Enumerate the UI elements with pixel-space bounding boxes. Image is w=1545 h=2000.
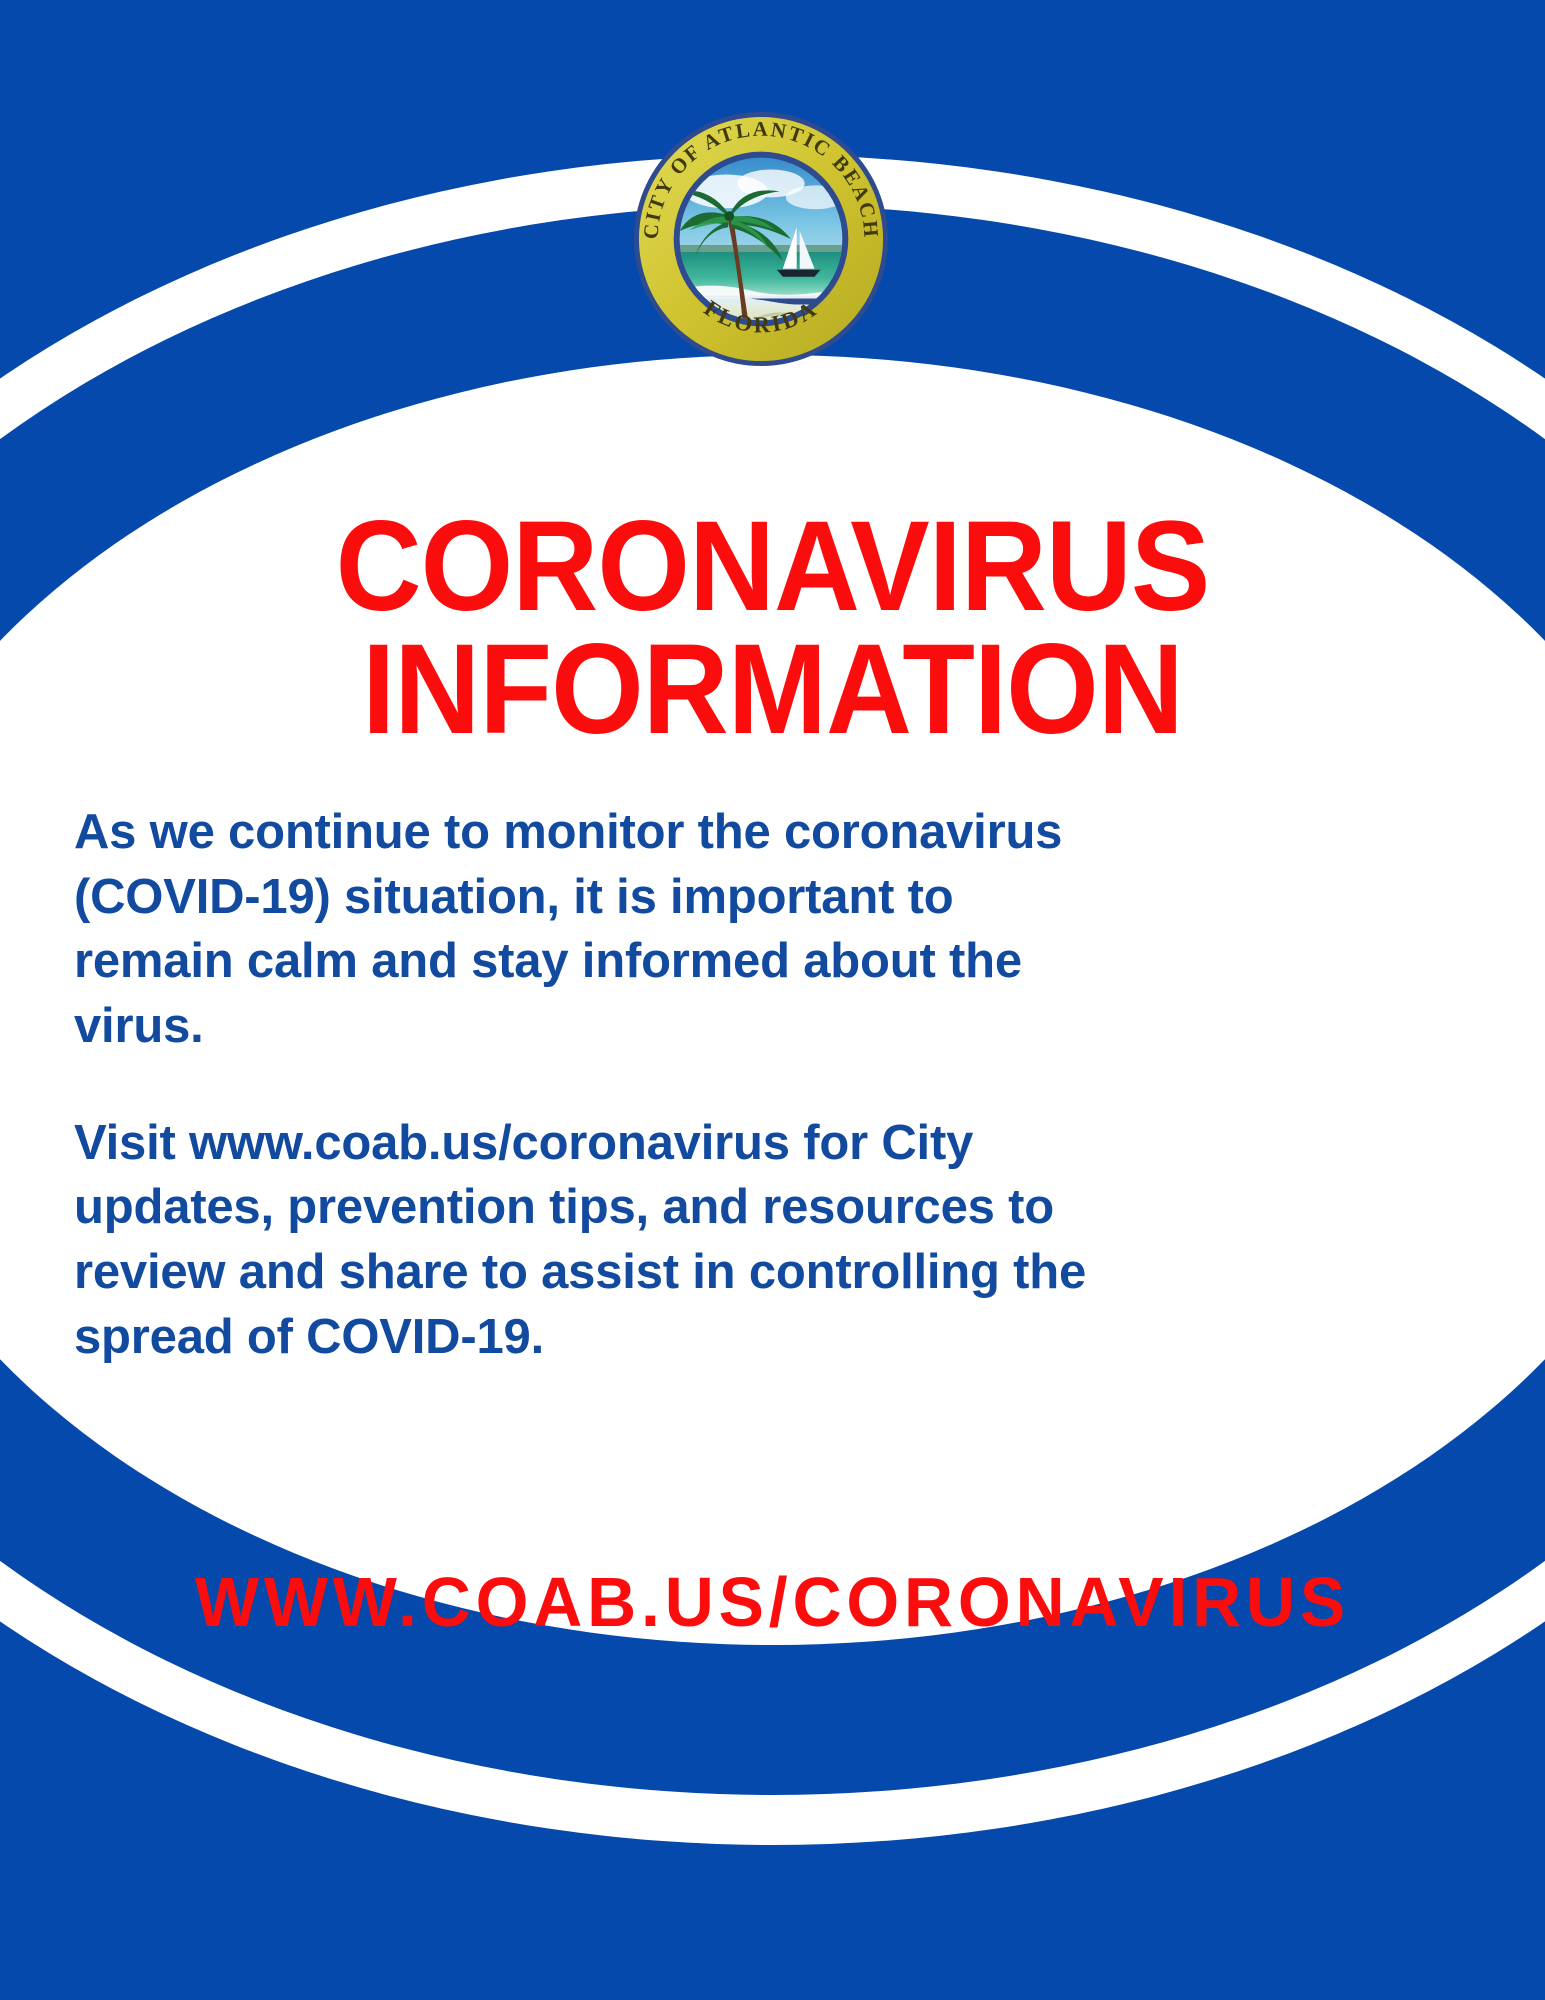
paragraph-2-line-4: spread of COVID-19. — [74, 1305, 1149, 1370]
page-title: CORONAVIRUS INFORMATION — [54, 506, 1491, 752]
body-paragraph-2: Visit www.coab.us/coronavirus for City u… — [74, 1111, 1149, 1370]
paragraph-2-line-2: updates, prevention tips, and resources … — [74, 1175, 1149, 1240]
headline-line-2: INFORMATION — [54, 629, 1491, 752]
paragraph-1-line-3: remain calm and stay informed about the — [74, 929, 1149, 994]
city-seal: CITY OF ATLANTIC BEACH FLORIDA — [632, 110, 890, 368]
body-copy: As we continue to monitor the coronaviru… — [74, 800, 1149, 1369]
paragraph-1-line-4: virus. — [74, 994, 1149, 1059]
paragraph-1-line-2: (COVID-19) situation, it is important to — [74, 865, 1149, 930]
paragraph-2-line-3: review and share to assist in controllin… — [74, 1240, 1149, 1305]
headline-line-1: CORONAVIRUS — [54, 506, 1491, 629]
paragraph-2-line-1: Visit www.coab.us/coronavirus for City — [74, 1111, 1149, 1176]
body-paragraph-1: As we continue to monitor the coronaviru… — [74, 800, 1149, 1059]
footer-url[interactable]: WWW.COAB.US/CORONAVIRUS — [23, 1562, 1522, 1642]
paragraph-1-line-1: As we continue to monitor the coronaviru… — [74, 800, 1149, 865]
poster-content: CITY OF ATLANTIC BEACH FLORIDA CORONAVIR… — [0, 0, 1545, 2000]
poster-canvas: CITY OF ATLANTIC BEACH FLORIDA CORONAVIR… — [0, 0, 1545, 2000]
city-seal-graphic: CITY OF ATLANTIC BEACH FLORIDA — [632, 110, 890, 368]
